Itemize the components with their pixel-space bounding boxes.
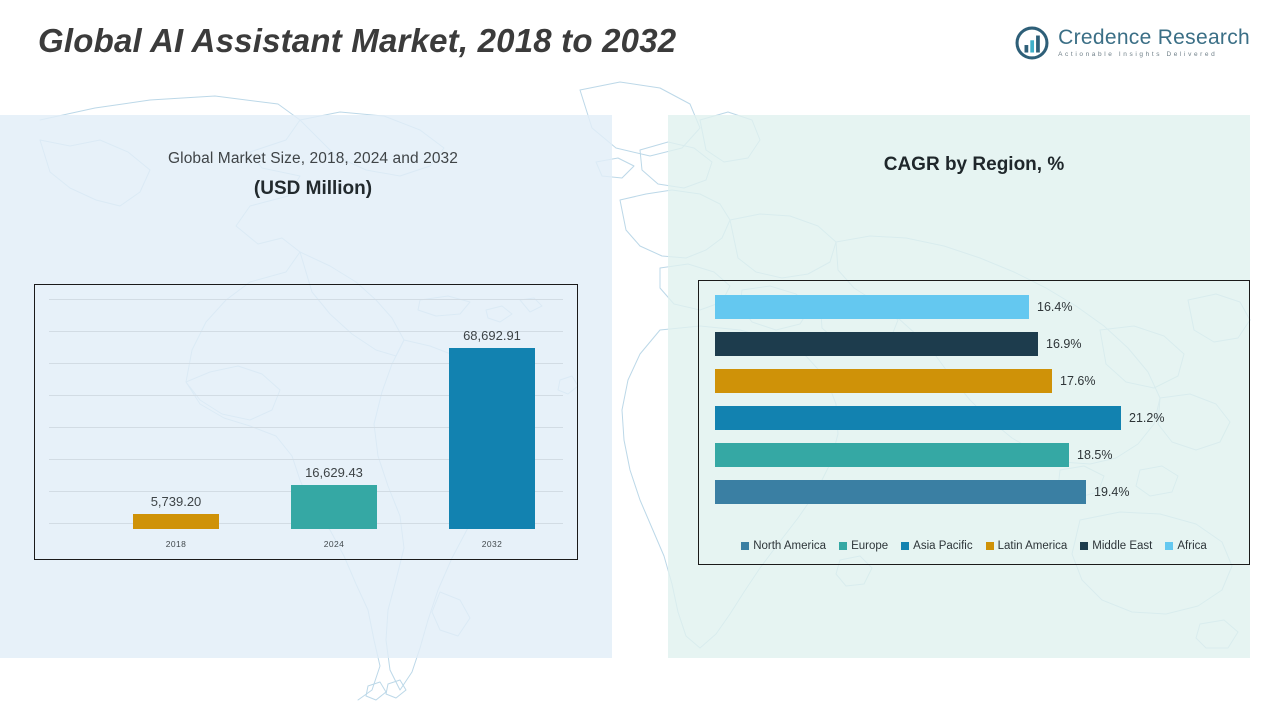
logo-company-name: Credence Research bbox=[1058, 27, 1250, 48]
cagr-by-region-bar-chart: 16.4%16.9%17.6%21.2%18.5%19.4% North Ame… bbox=[698, 280, 1250, 565]
bar-value-label: 5,739.20 bbox=[151, 494, 202, 509]
left-chart-title-line1: Global Market Size, 2018, 2024 and 2032 bbox=[60, 150, 566, 168]
chart-legend: North AmericaEuropeAsia PacificLatin Ame… bbox=[699, 540, 1249, 552]
legend-item[interactable]: Asia Pacific bbox=[901, 540, 972, 552]
bar-group: 5,739.20 bbox=[128, 494, 224, 529]
market-size-bar-chart: 5,739.20201816,629.43202468,692.912032 bbox=[34, 284, 578, 560]
legend-label: Latin America bbox=[998, 540, 1068, 552]
bar[interactable] bbox=[715, 295, 1029, 319]
bar-chart-circle-icon bbox=[1015, 26, 1049, 60]
bar-row: 16.9% bbox=[715, 332, 1081, 356]
right-chart-title-line1: CAGR by Region, % bbox=[700, 154, 1248, 176]
bar-value-label: 19.4% bbox=[1094, 485, 1129, 499]
bar-row: 21.2% bbox=[715, 406, 1164, 430]
bar-group: 16,629.43 bbox=[286, 465, 382, 529]
bar[interactable] bbox=[133, 514, 219, 529]
page-title: Global AI Assistant Market, 2018 to 2032 bbox=[38, 22, 676, 60]
horizontal-bars-group: 16.4%16.9%17.6%21.2%18.5%19.4% bbox=[715, 295, 1239, 510]
legend-swatch bbox=[1165, 542, 1173, 550]
bar[interactable] bbox=[715, 480, 1086, 504]
x-axis-tick-label: 2024 bbox=[286, 539, 382, 549]
bar-row: 17.6% bbox=[715, 369, 1095, 393]
bar[interactable] bbox=[715, 443, 1069, 467]
legend-item[interactable]: North America bbox=[741, 540, 826, 552]
logo-tagline: Actionable Insights Delivered bbox=[1058, 52, 1250, 59]
legend-item[interactable]: Europe bbox=[839, 540, 888, 552]
legend-label: Asia Pacific bbox=[913, 540, 972, 552]
bar-value-label: 21.2% bbox=[1129, 411, 1164, 425]
bar[interactable] bbox=[715, 369, 1052, 393]
legend-swatch bbox=[839, 542, 847, 550]
legend-label: North America bbox=[753, 540, 826, 552]
legend-item[interactable]: Latin America bbox=[986, 540, 1068, 552]
legend-swatch bbox=[986, 542, 994, 550]
left-chart-title-line2: (USD Million) bbox=[60, 178, 566, 200]
legend-item[interactable]: Middle East bbox=[1080, 540, 1152, 552]
bar-group: 68,692.91 bbox=[444, 328, 540, 529]
bar-value-label: 18.5% bbox=[1077, 448, 1112, 462]
legend-label: Europe bbox=[851, 540, 888, 552]
bar-value-label: 68,692.91 bbox=[463, 328, 521, 343]
bar-value-label: 16,629.43 bbox=[305, 465, 363, 480]
x-axis-tick-label: 2032 bbox=[444, 539, 540, 549]
vertical-bars-group: 5,739.20201816,629.43202468,692.912032 bbox=[35, 285, 577, 559]
left-chart-title: Global Market Size, 2018, 2024 and 2032 … bbox=[60, 150, 566, 200]
page-header: Global AI Assistant Market, 2018 to 2032… bbox=[0, 0, 1280, 92]
legend-label: Middle East bbox=[1092, 540, 1152, 552]
bar-row: 16.4% bbox=[715, 295, 1072, 319]
bar[interactable] bbox=[291, 485, 377, 529]
company-logo: Credence Research Actionable Insights De… bbox=[1015, 26, 1250, 60]
bar-value-label: 16.9% bbox=[1046, 337, 1081, 351]
legend-item[interactable]: Africa bbox=[1165, 540, 1206, 552]
x-axis-tick-label: 2018 bbox=[128, 539, 224, 549]
legend-swatch bbox=[741, 542, 749, 550]
bar-value-label: 16.4% bbox=[1037, 300, 1072, 314]
bar-row: 18.5% bbox=[715, 443, 1112, 467]
bar[interactable] bbox=[715, 332, 1038, 356]
legend-swatch bbox=[1080, 542, 1088, 550]
legend-swatch bbox=[901, 542, 909, 550]
bar-row: 19.4% bbox=[715, 480, 1129, 504]
bar[interactable] bbox=[715, 406, 1121, 430]
bar-value-label: 17.6% bbox=[1060, 374, 1095, 388]
bar[interactable] bbox=[449, 348, 535, 529]
legend-label: Africa bbox=[1177, 540, 1206, 552]
right-chart-title: CAGR by Region, % bbox=[700, 154, 1248, 176]
